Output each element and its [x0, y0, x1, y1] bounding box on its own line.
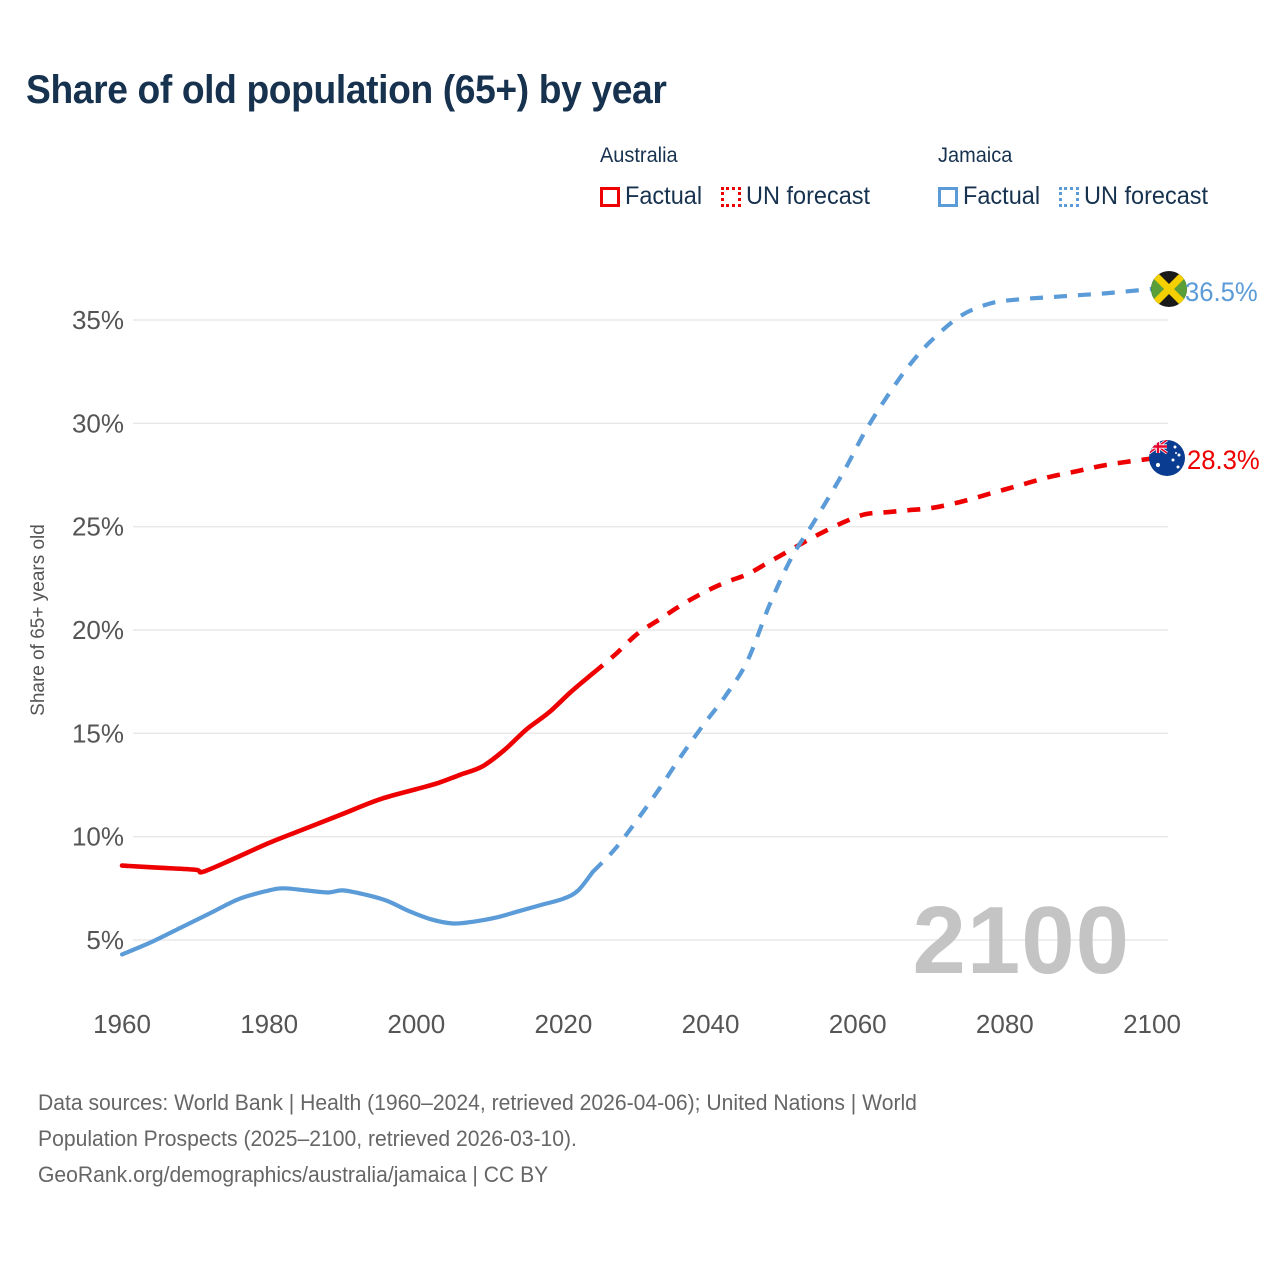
data-series-group	[122, 289, 1152, 954]
series-line-australia-forecast	[593, 458, 1152, 673]
y-axis-tick-label: 30%	[72, 408, 124, 438]
gridlines	[133, 320, 1168, 940]
y-axis-ticks: 5%10%15%20%25%30%35%	[72, 305, 124, 955]
series-line-australia-factual	[122, 673, 593, 872]
y-axis-title: Share of 65+ years old	[28, 524, 49, 716]
x-axis-tick-label: 2080	[976, 1009, 1034, 1039]
x-axis-tick-label: 2000	[387, 1009, 445, 1039]
series-line-jamaica-factual	[122, 872, 593, 955]
x-axis-tick-label: 1980	[240, 1009, 298, 1039]
footer-line-sources-2: Population Prospects (2025–2100, retriev…	[38, 1121, 1190, 1157]
end-value-australia: 28.3%	[1187, 445, 1260, 476]
x-axis-tick-label: 1960	[93, 1009, 151, 1039]
x-axis-tick-label: 2020	[535, 1009, 593, 1039]
y-axis-tick-label: 15%	[72, 718, 124, 748]
x-axis-ticks: 19601980200020202040206020802100	[93, 1009, 1181, 1039]
y-axis-tick-label: 25%	[72, 512, 124, 542]
y-axis-tick-label: 35%	[72, 305, 124, 335]
chart-footer: Data sources: World Bank | Health (1960–…	[38, 1085, 1238, 1193]
y-axis-tick-label: 20%	[72, 615, 124, 645]
series-line-jamaica-forecast	[593, 289, 1152, 872]
australia-flag-icon	[1149, 440, 1185, 476]
year-watermark: 2100	[912, 893, 1130, 989]
y-axis-tick-label: 10%	[72, 822, 124, 852]
x-axis-tick-label: 2040	[682, 1009, 740, 1039]
x-axis-tick-label: 2100	[1123, 1009, 1181, 1039]
end-value-jamaica: 36.5%	[1185, 277, 1258, 308]
y-axis-tick-label: 5%	[86, 925, 124, 955]
footer-line-attribution: GeoRank.org/demographics/australia/jamai…	[38, 1157, 1190, 1193]
footer-line-sources-1: Data sources: World Bank | Health (1960–…	[38, 1085, 1190, 1121]
jamaica-flag-icon	[1151, 271, 1187, 307]
x-axis-tick-label: 2060	[829, 1009, 887, 1039]
